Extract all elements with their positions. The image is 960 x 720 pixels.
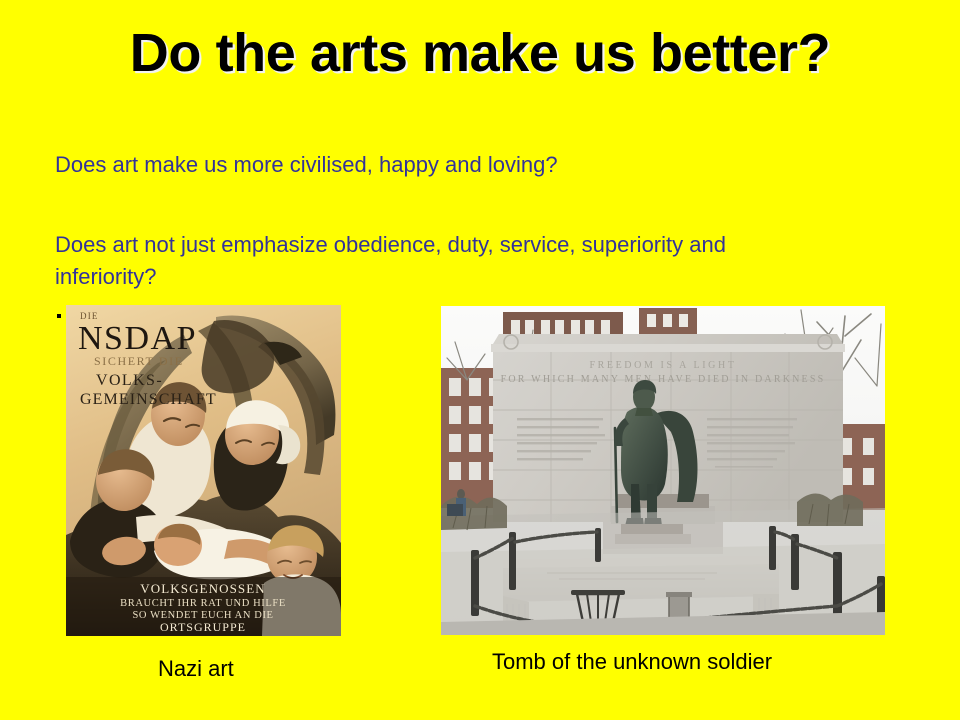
poster-footer-2: BRAUCHT IHR RAT UND HILFE [120, 598, 286, 609]
page-title: Do the arts make us better? [0, 22, 960, 84]
nazi-poster-illustration: DIE NSDAP SICHERT DIE VOLKS- GEMEINSCHAF… [66, 305, 341, 636]
body-paragraph-1: Does art make us more civilised, happy a… [55, 149, 755, 181]
poster-footer-4: ORTSGRUPPE [160, 620, 246, 634]
nazi-art-image: DIE NSDAP SICHERT DIE VOLKS- GEMEINSCHAF… [66, 305, 341, 636]
body-paragraph-2: Does art not just emphasize obedience, d… [55, 229, 755, 293]
tomb-inscription-line-1: FREEDOM IS A LIGHT [589, 360, 736, 371]
tomb-inscription-line-2: FOR WHICH MANY MEN HAVE DIED IN DARKNESS [501, 374, 826, 385]
poster-line-2: NSDAP [78, 320, 197, 357]
caption-tomb-of-unknown-soldier: Tomb of the unknown soldier [492, 648, 772, 676]
poster-line-3: SICHERT DIE [94, 354, 184, 368]
poster-footer-1: VOLKSGENOSSEN [140, 581, 266, 596]
tomb-photograph: FREEDOM IS A LIGHT FOR WHICH MANY MEN HA… [441, 306, 885, 635]
tomb-of-unknown-soldier-image: FREEDOM IS A LIGHT FOR WHICH MANY MEN HA… [441, 306, 885, 635]
poster-line-5: GEMEINSCHAFT [80, 391, 217, 408]
caption-nazi-art: Nazi art [158, 655, 234, 683]
poster-line-4: VOLKS- [96, 372, 163, 389]
slide-canvas: Do the arts make us better? Does art mak… [0, 0, 960, 720]
bullet-marker-icon [57, 314, 61, 318]
